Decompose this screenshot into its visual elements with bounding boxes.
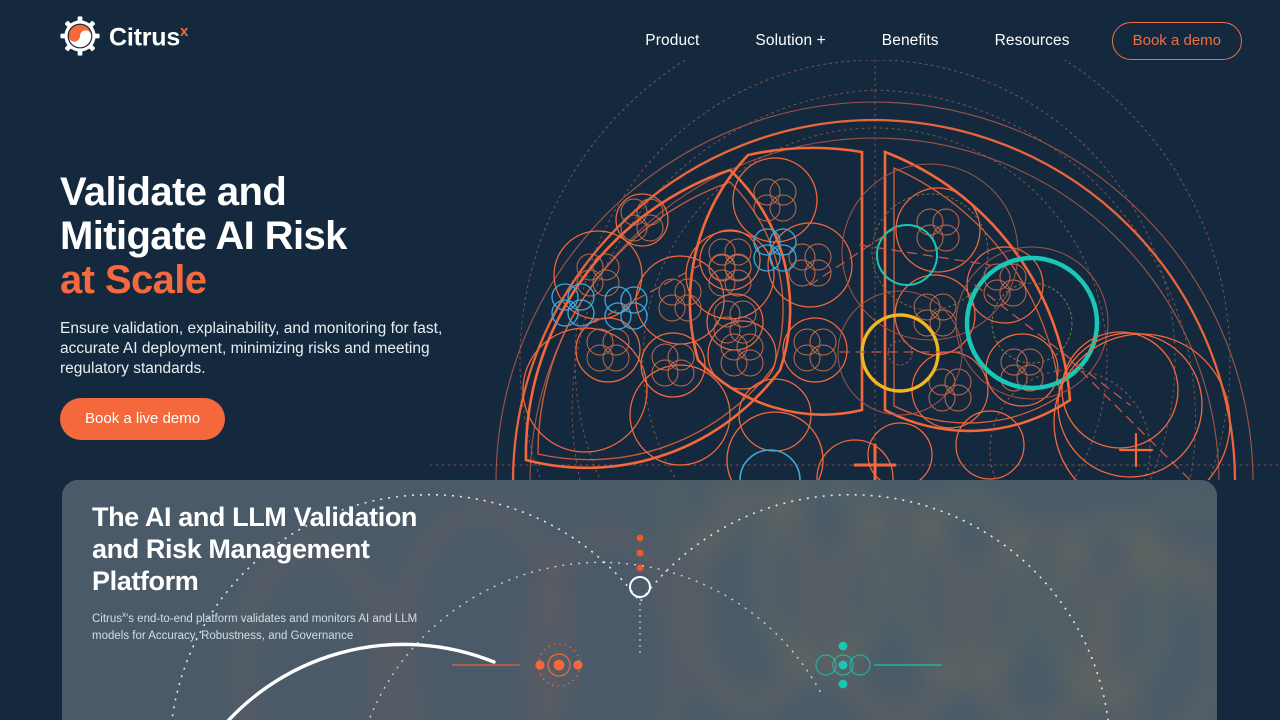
monitor-node-cluster [816,642,942,689]
brand-superscript: x [180,23,188,40]
page-root: Citrusx Product Solution + Benefits Reso… [0,0,1280,720]
brand-wordmark: Citrusx [109,24,188,50]
card-sub-prefix: Citrus [92,612,122,624]
brand-name: Citrus [109,23,180,51]
main-navigation: Product Solution + Benefits Resources Bo… [617,22,1242,60]
book-a-live-demo-button[interactable]: Book a live demo [60,398,225,440]
nav-item-solution[interactable]: Solution + [727,32,853,50]
citrus-gear-logo-icon [60,16,100,56]
site-header: Citrusx Product Solution + Benefits Reso… [0,0,1280,76]
nav-item-resources[interactable]: Resources [967,32,1098,50]
platform-overview-card: The AI and LLM Validation and Risk Manag… [62,480,1217,720]
hero-title: Validate and Mitigate AI Risk at Scale [60,170,510,302]
brand-logo[interactable]: Citrusx [60,16,188,56]
platform-card-title: The AI and LLM Validation and Risk Manag… [92,502,422,598]
hero-title-line-1: Validate and [60,170,286,214]
nav-item-product[interactable]: Product [617,32,727,50]
book-a-demo-button[interactable]: Book a demo [1112,22,1242,60]
hero-title-accent: at Scale [60,258,510,302]
hero-subtitle: Ensure validation, explainability, and m… [60,319,460,378]
platform-card-subtitle: Citrusx's end-to-end platform validates … [92,609,422,646]
hero-title-line-2: Mitigate AI Risk [60,214,347,258]
platform-card-text: The AI and LLM Validation and Risk Manag… [92,502,422,645]
hero-section: Validate and Mitigate AI Risk at Scale E… [60,170,510,440]
card-sub-rest: 's end-to-end platform validates and mon… [92,612,417,641]
validate-node-cluster [452,644,583,686]
nav-item-benefits[interactable]: Benefits [854,32,967,50]
